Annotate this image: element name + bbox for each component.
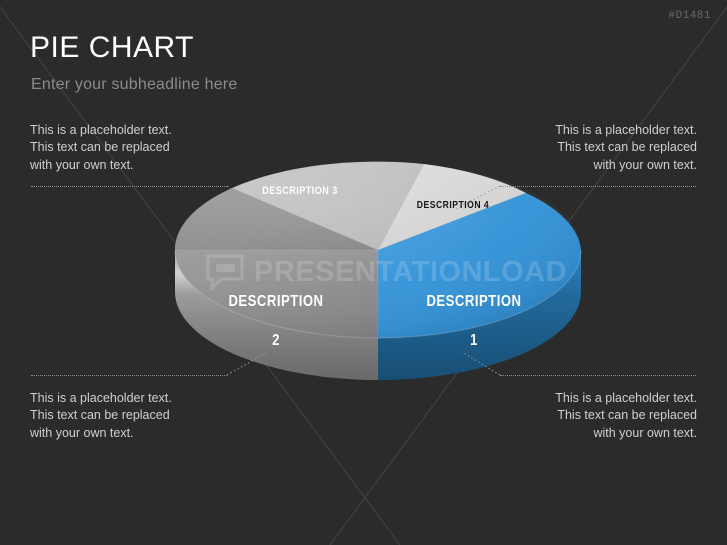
pie-label-2-index: 2: [272, 332, 280, 349]
pie-label-description-4: DESCRIPTION 4: [407, 199, 499, 212]
pie-slice-description-2: [175, 192, 378, 338]
placeholder-text-bottom-right[interactable]: This is a placeholder text. This text ca…: [482, 390, 697, 442]
pie-slice-description-3: [232, 162, 424, 250]
pie-label-description-1: DESCRIPTION 1: [417, 272, 532, 350]
pie-slice-separators: [175, 164, 526, 338]
pie-slice-description-1: [378, 193, 581, 338]
placeholder-text-top-right[interactable]: This is a placeholder text. This text ca…: [482, 122, 697, 174]
page-title: PIE CHART: [30, 32, 194, 64]
pie-label-description-3: DESCRIPTION 3: [247, 185, 354, 198]
placeholder-text-top-left[interactable]: This is a placeholder text. This text ca…: [30, 122, 245, 174]
leader-line-top-left: [31, 186, 227, 188]
pie-label-1-index: 1: [470, 332, 478, 349]
leader-line-bottom-left: [31, 375, 227, 377]
pie-label-1-text: DESCRIPTION: [426, 293, 521, 310]
pie-label-2-text: DESCRIPTION: [228, 293, 323, 310]
leader-line-bottom-right: [500, 375, 696, 377]
document-id: #D1481: [668, 10, 711, 22]
speech-bubble-logo-icon: [205, 252, 245, 292]
pie-label-description-2: DESCRIPTION 2: [219, 272, 334, 350]
slide-canvas: #D1481 PIE CHART Enter your subheadline …: [0, 0, 727, 545]
placeholder-text-bottom-left[interactable]: This is a placeholder text. This text ca…: [30, 390, 245, 442]
pie-side-wall-blue: [378, 250, 581, 380]
pie-slice-description-4: [378, 164, 526, 250]
page-subtitle: Enter your subheadline here: [31, 76, 237, 94]
pie-side-wall-gray: [175, 250, 378, 380]
pie-front-rim-highlight: [175, 250, 581, 338]
leader-line-top-right: [500, 186, 696, 188]
pie-top-sheen: [175, 162, 581, 338]
watermark-text: PRESENTATIONLOAD: [254, 258, 567, 287]
watermark: PRESENTATIONLOAD: [205, 252, 567, 292]
